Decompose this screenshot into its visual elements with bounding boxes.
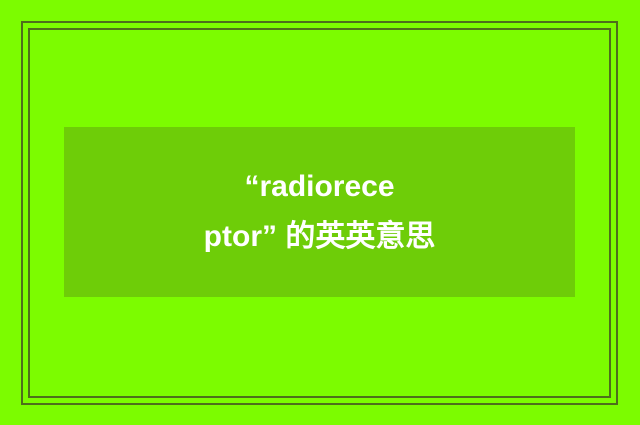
banner-canvas: “radiorece ptor” 的英英意思 [0,0,640,425]
title-panel: “radiorece ptor” 的英英意思 [64,127,575,297]
title-line-1: “radiorece [244,162,394,212]
title-line-2: ptor” 的英英意思 [204,212,436,262]
